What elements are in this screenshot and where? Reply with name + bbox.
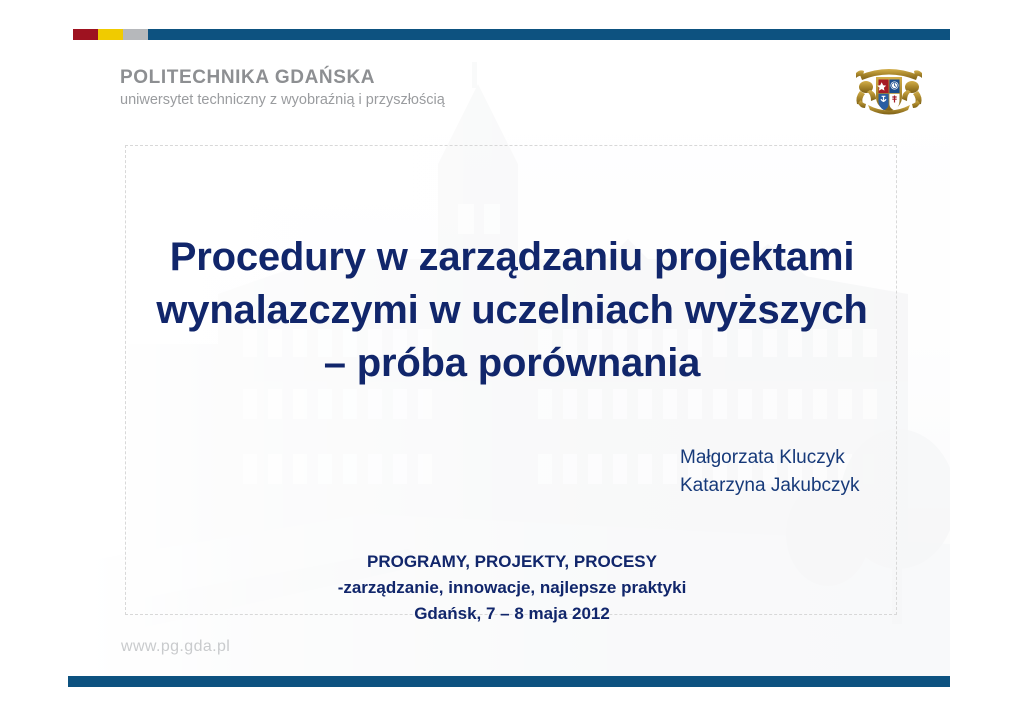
conference-subtitle: -zarządzanie, innowacje, najlepsze prakt… bbox=[128, 575, 896, 601]
strip-segment-red bbox=[73, 29, 98, 40]
conference-details: PROGRAMY, PROJEKTY, PROCESY -zarządzanie… bbox=[128, 549, 896, 626]
crest-icon bbox=[846, 63, 932, 115]
title-line-1: Procedury w zarządzaniu projektami bbox=[128, 231, 896, 284]
institution-logo: POLITECHNIKA GDAŃSKA uniwersytet technic… bbox=[120, 68, 445, 108]
institution-tagline: uniwersytet techniczny z wyobraźnią i pr… bbox=[120, 93, 445, 108]
footer-website-url: www.pg.gda.pl bbox=[121, 638, 230, 656]
slide-canvas: POLITECHNIKA GDAŃSKA uniwersytet technic… bbox=[0, 0, 1024, 724]
author-list: Małgorzata Kluczyk Katarzyna Jakubczyk bbox=[540, 444, 885, 499]
strip-segment-gray bbox=[123, 29, 148, 40]
strip-segment-blue bbox=[148, 29, 950, 40]
title-line-3: – próba porównania bbox=[128, 337, 896, 390]
footer-blue-bar bbox=[68, 676, 950, 687]
page-title: Procedury w zarządzaniu projektami wynal… bbox=[128, 231, 896, 391]
author-name-1: Małgorzata Kluczyk bbox=[540, 444, 885, 472]
institution-name: POLITECHNIKA GDAŃSKA bbox=[120, 68, 445, 87]
author-name-2: Katarzyna Jakubczyk bbox=[540, 472, 885, 500]
strip-segment-yellow bbox=[98, 29, 123, 40]
conference-name: PROGRAMY, PROJEKTY, PROCESY bbox=[128, 549, 896, 575]
title-line-2: wynalazczymi w uczelniach wyższych bbox=[128, 284, 896, 337]
brand-color-strip bbox=[73, 29, 950, 40]
conference-place-date: Gdańsk, 7 – 8 maja 2012 bbox=[128, 601, 896, 627]
